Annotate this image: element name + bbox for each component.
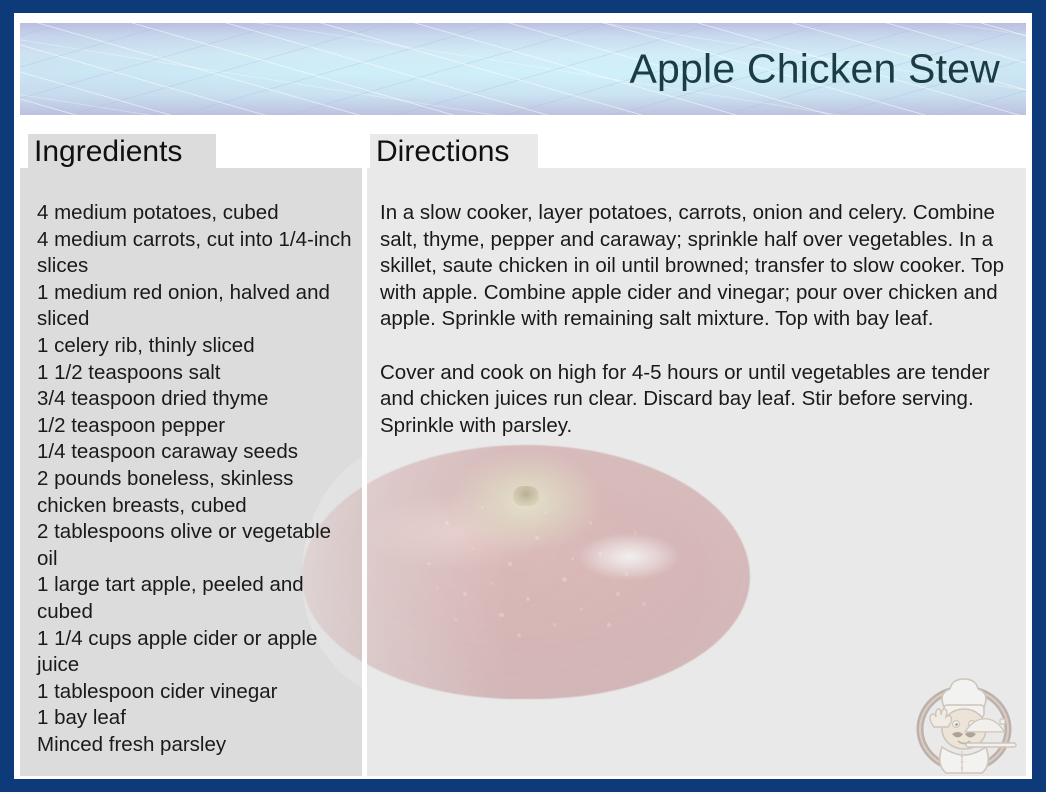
ingredients-list: 4 medium potatoes, cubed4 medium carrots…	[37, 200, 355, 758]
ingredient-item: 4 medium potatoes, cubed	[37, 200, 355, 227]
ingredient-item: 1 medium red onion, halved and sliced	[37, 280, 355, 333]
ingredient-item: 1/4 teaspoon caraway seeds	[37, 439, 355, 466]
ingredient-item: 1 1/4 cups apple cider or apple juice	[37, 626, 355, 679]
ingredient-item: 2 pounds boneless, skinless chicken brea…	[37, 466, 355, 519]
header-banner: Apple Chicken Stew	[20, 23, 1026, 115]
recipe-card: Apple Chicken Stew Ingredients 4 medium …	[14, 13, 1032, 779]
ingredient-item: 1 bay leaf	[37, 705, 355, 732]
ingredients-heading: Ingredients	[34, 134, 182, 170]
ingredient-item: 1 large tart apple, peeled and cubed	[37, 572, 355, 625]
page-title: Apple Chicken Stew	[629, 46, 1000, 93]
ingredient-item: 2 tablespoons olive or vegetable oil	[37, 519, 355, 572]
ingredient-item: Minced fresh parsley	[37, 732, 355, 759]
directions-text: In a slow cooker, layer potatoes, carrot…	[380, 200, 1018, 439]
ingredient-item: 1 tablespoon cider vinegar	[37, 679, 355, 706]
ingredient-item: 1 celery rib, thinly sliced	[37, 333, 355, 360]
directions-heading-tab: Directions	[370, 134, 538, 172]
ingredients-heading-tab: Ingredients	[28, 134, 216, 172]
ingredient-item: 1 1/2 teaspoons salt	[37, 360, 355, 387]
directions-heading: Directions	[376, 134, 509, 170]
ingredients-panel: Ingredients 4 medium potatoes, cubed4 me…	[20, 168, 362, 776]
ingredient-item: 1/2 teaspoon pepper	[37, 413, 355, 440]
ingredient-item: 4 medium carrots, cut into 1/4-inch slic…	[37, 227, 355, 280]
direction-paragraph: In a slow cooker, layer potatoes, carrot…	[380, 200, 1018, 333]
direction-paragraph: Cover and cook on high for 4-5 hours or …	[380, 360, 1018, 440]
ingredient-item: 3/4 teaspoon dried thyme	[37, 386, 355, 413]
panel-divider	[362, 168, 367, 776]
chef-mascot-logo	[904, 663, 1024, 779]
